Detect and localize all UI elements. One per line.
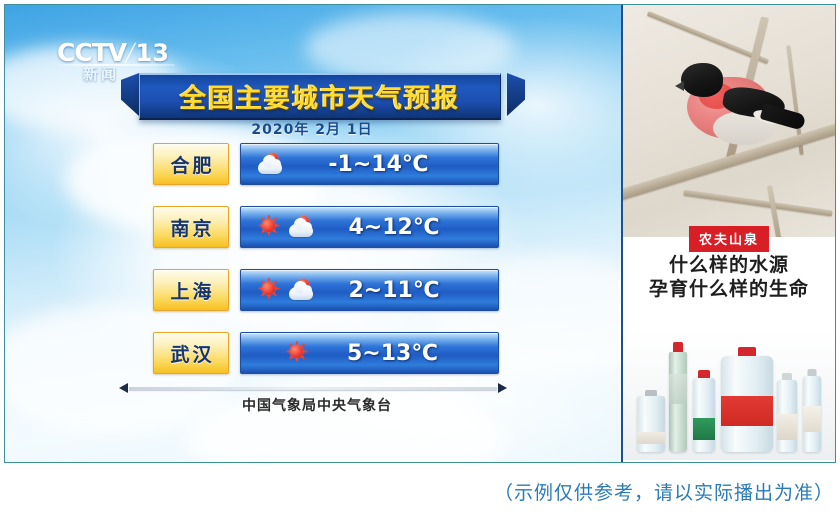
- channel-sub-label: 新闻: [83, 63, 119, 84]
- sun-icon: [257, 215, 283, 239]
- brand-badge: 农夫山泉: [689, 226, 769, 252]
- branch-decoration: [767, 185, 784, 237]
- partly-cloudy-icon: [288, 278, 314, 302]
- ad-slogan-line-1: 什么样的水源: [623, 253, 835, 277]
- weather-icon-group: [257, 215, 314, 239]
- table-row: 南京: [153, 206, 499, 248]
- product-lineup: [623, 332, 835, 460]
- temperature-range: 2~11℃: [314, 278, 498, 303]
- temperature-range: 4~12℃: [314, 215, 498, 240]
- cctv-wordmark: CCTV: [57, 40, 126, 65]
- city-forecast-list: 合肥 -1~14℃ 南京: [153, 143, 499, 395]
- branch-decoration: [683, 190, 832, 217]
- sun-icon: [285, 341, 311, 365]
- advertisement-pane: 农夫山泉 什么样的水源 孕育什么样的生命: [621, 5, 835, 462]
- page-title: 全国主要城市天气预报: [180, 78, 460, 115]
- city-name: 上海: [167, 277, 214, 304]
- city-name: 武汉: [167, 340, 214, 367]
- temperature-bar: 2~11℃: [240, 269, 499, 311]
- bullfinch-bird-illustration: [669, 53, 801, 165]
- forecast-title-banner: 全国主要城市天气预报: [139, 73, 501, 120]
- partly-cloudy-icon: [288, 215, 314, 239]
- banner-wing-right: [507, 73, 525, 116]
- table-row: 合肥 -1~14℃: [153, 143, 499, 185]
- product-bottle: [693, 378, 715, 452]
- forecast-date: 2020年 2月 1日: [123, 119, 501, 139]
- ad-slogan: 什么样的水源 孕育什么样的生命: [623, 253, 835, 302]
- weather-icon-group: [257, 278, 314, 302]
- ad-photo: [623, 5, 835, 237]
- city-chip: 武汉: [153, 332, 229, 374]
- tv-broadcast-pane: CCTV/13 新闻 全国主要城市天气预报 2020年 2月 1日 合肥: [5, 5, 623, 462]
- brand-name: 农夫山泉: [699, 233, 759, 248]
- table-row: 上海: [153, 269, 499, 311]
- city-name: 南京: [167, 214, 214, 241]
- ad-slogan-line-2: 孕育什么样的生命: [623, 277, 835, 301]
- forecast-source-credit: 中国气象局中央气象台: [123, 395, 511, 415]
- sun-icon: [257, 278, 283, 302]
- disclaimer-caption: （示例仅供参考，请以实际播出为准）: [494, 478, 834, 505]
- baseline-cap-left-icon: [119, 383, 128, 393]
- temperature-range: 5~13℃: [311, 341, 498, 366]
- city-chip: 上海: [153, 269, 229, 311]
- temperature-bar: 4~12℃: [240, 206, 499, 248]
- product-bottle: [803, 376, 821, 452]
- broadcast-preview-frame: CCTV/13 新闻 全国主要城市天气预报 2020年 2月 1日 合肥: [4, 4, 836, 463]
- product-bottle: [669, 352, 687, 452]
- cctv13-channel-logo: CCTV/13 新闻: [57, 38, 182, 86]
- product-bottle: [777, 380, 797, 452]
- city-chip: 南京: [153, 206, 229, 248]
- weather-icon-group: [285, 341, 311, 365]
- baseline-cap-right-icon: [498, 383, 507, 393]
- temperature-bar: 5~13℃: [240, 332, 499, 374]
- baseline-bar: [129, 387, 497, 390]
- product-bottle: [637, 396, 665, 452]
- city-chip: 合肥: [153, 143, 229, 185]
- table-row: 武汉 5~13℃: [153, 332, 499, 374]
- channel-number: 13: [136, 39, 169, 67]
- partly-cloudy-icon: [257, 152, 283, 176]
- temperature-bar: -1~14℃: [240, 143, 499, 185]
- weather-forecast-card: 全国主要城市天气预报 2020年 2月 1日 合肥: [123, 65, 523, 417]
- temperature-range: -1~14℃: [283, 152, 498, 177]
- city-name: 合肥: [167, 151, 214, 178]
- product-bottle: [721, 356, 773, 452]
- card-baseline-rule: [119, 383, 507, 393]
- weather-icon-group: [257, 152, 283, 176]
